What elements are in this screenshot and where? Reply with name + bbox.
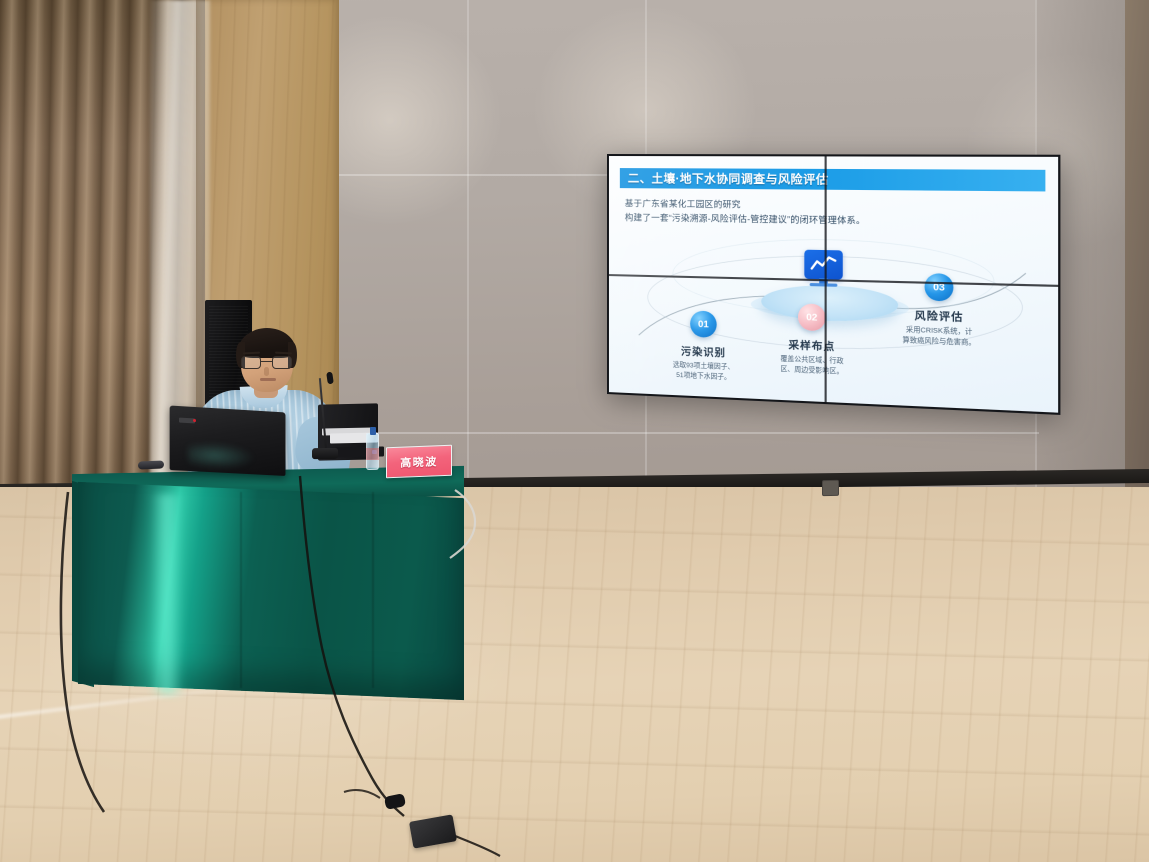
wood-wall-panel-right bbox=[1125, 0, 1149, 492]
wall-seam bbox=[467, 0, 469, 492]
glasses-lens-right bbox=[272, 356, 292, 369]
presentation-slide: 二、土壤·地下水协同调查与风险评估 基于广东省某化工园区的研究 构建了一套“污染… bbox=[609, 156, 1058, 413]
table-sheen bbox=[150, 493, 184, 694]
conference-room-scene: 二、土壤·地下水协同调查与风险评估 基于广东省某化工园区的研究 构建了一套“污染… bbox=[0, 0, 1149, 862]
bottle-label bbox=[366, 448, 379, 460]
glasses-lens-left bbox=[241, 356, 261, 369]
laptop-reflection bbox=[188, 441, 254, 471]
laptop-logo-dot-icon bbox=[193, 418, 196, 421]
draped-table bbox=[72, 470, 464, 692]
step-label-02: 采样布点 覆盖公共区域、行政 区、周边受影响区。 bbox=[742, 335, 882, 379]
water-bottle bbox=[366, 424, 379, 470]
monitor-chart-icon bbox=[804, 250, 842, 280]
microphone-base bbox=[312, 448, 338, 459]
presenter-nose bbox=[264, 367, 269, 376]
table-fold bbox=[240, 492, 242, 688]
table-fold bbox=[372, 492, 374, 688]
monitor-base bbox=[810, 283, 838, 287]
step-title-03: 风险评估 bbox=[867, 305, 1014, 325]
table-front-drape bbox=[78, 482, 464, 700]
video-wall-display[interactable]: 二、土壤·地下水协同调查与风险评估 基于广东省某化工园区的研究 构建了一套“污染… bbox=[607, 154, 1060, 415]
presenter-mouth bbox=[260, 378, 276, 381]
step-label-03: 风险评估 采用CRISK系统，计 算致癌风险与危害商。 bbox=[867, 305, 1014, 349]
wall-seam-horizontal bbox=[339, 432, 1039, 434]
step-node-02: 02 bbox=[798, 303, 826, 331]
name-plate: 高晓波 bbox=[386, 445, 452, 479]
desk-accessory bbox=[138, 461, 164, 470]
step-node-03: 03 bbox=[925, 273, 954, 301]
laptop-device[interactable] bbox=[170, 409, 286, 473]
glasses-bridge bbox=[261, 361, 272, 362]
step-node-01: 01 bbox=[690, 311, 717, 338]
wall-outlet-icon bbox=[822, 480, 839, 496]
slide-title-text: 二、土壤·地下水协同调查与风险评估 bbox=[628, 170, 829, 188]
bottle-cap bbox=[370, 427, 376, 435]
slide-title-bar: 二、土壤·地下水协同调查与风险评估 bbox=[620, 168, 1046, 191]
name-plate-text: 高晓波 bbox=[400, 453, 438, 470]
